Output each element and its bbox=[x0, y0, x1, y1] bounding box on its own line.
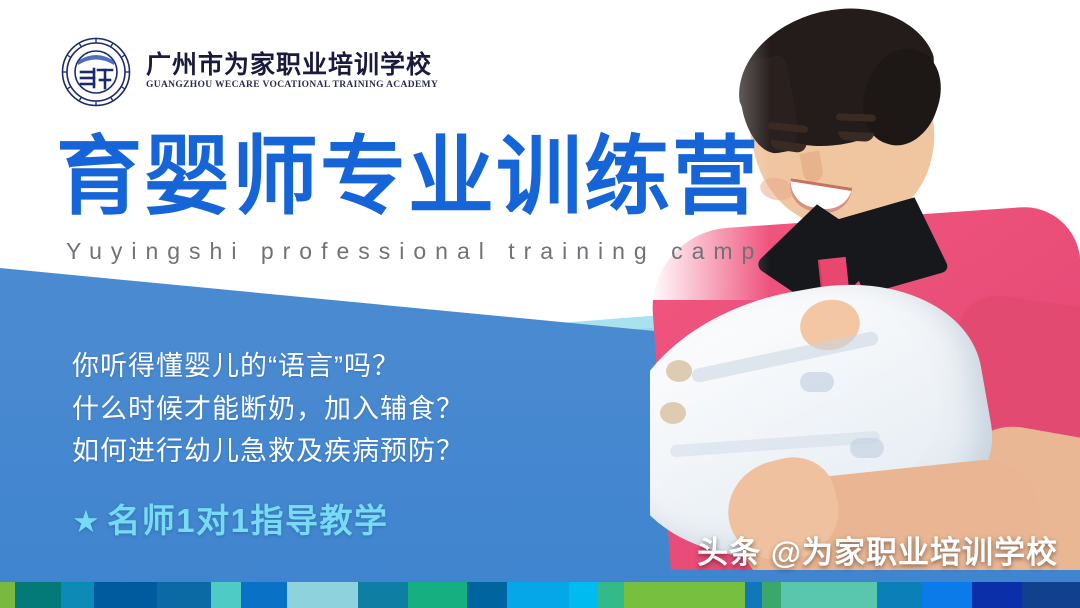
circular-seal-logo-icon bbox=[60, 36, 132, 108]
strip-segment bbox=[61, 582, 94, 608]
blanket-bear-print bbox=[666, 360, 692, 382]
page-subtitle: Yuyingshi professional training camp bbox=[66, 238, 763, 265]
page-title: 育婴师专业训练营 bbox=[56, 134, 760, 220]
question-line: 什么时候才能断奶，加入辅食？ bbox=[72, 388, 464, 431]
school-name-cn: 广州市为家职业培训学校 bbox=[146, 53, 438, 78]
strip-segment bbox=[624, 582, 745, 608]
strip-segment bbox=[922, 582, 972, 608]
highlight-callout: ★名师1对1指导教学 bbox=[72, 494, 389, 542]
question-line: 你听得懂婴儿的“语言”吗？ bbox=[72, 345, 464, 388]
strip-segment bbox=[157, 582, 211, 608]
watermark-label: 头条 @为家职业培训学校 bbox=[697, 527, 1058, 572]
highlight-text: 名师1对1指导教学 bbox=[107, 502, 388, 539]
strip-segment bbox=[1022, 582, 1080, 608]
strip-segment bbox=[94, 582, 157, 608]
strip-segment bbox=[762, 582, 780, 608]
teacher-with-baby-photo bbox=[650, 0, 1080, 570]
strip-segment bbox=[0, 582, 15, 608]
strip-segment bbox=[972, 582, 1022, 608]
star-icon: ★ bbox=[72, 504, 101, 539]
eyebrow-right bbox=[836, 113, 876, 121]
blanket-cloud-print bbox=[800, 372, 834, 392]
brand-lockup: 广州市为家职业培训学校 GUANGZHOU WECARE VOCATIONAL … bbox=[60, 36, 438, 108]
strip-segment bbox=[781, 582, 877, 608]
question-list: 你听得懂婴儿的“语言”吗？ 什么时候才能断奶，加入辅食？ 如何进行幼儿急救及疾病… bbox=[72, 345, 464, 473]
bottom-color-strip bbox=[0, 582, 1080, 608]
strip-segment bbox=[358, 582, 408, 608]
strip-segment bbox=[287, 582, 359, 608]
strip-segment bbox=[598, 582, 624, 608]
strip-segment bbox=[15, 582, 61, 608]
strip-segment bbox=[569, 582, 598, 608]
strip-segment bbox=[408, 582, 466, 608]
blanket-cloud-print bbox=[850, 438, 884, 458]
school-name-block: 广州市为家职业培训学校 GUANGZHOU WECARE VOCATIONAL … bbox=[146, 53, 438, 91]
strip-segment bbox=[211, 582, 241, 608]
strip-segment bbox=[467, 582, 507, 608]
strip-segment bbox=[241, 582, 287, 608]
school-name-en: GUANGZHOU WECARE VOCATIONAL TRAINING ACA… bbox=[146, 81, 438, 91]
strip-segment bbox=[745, 582, 763, 608]
blanket-bear-print bbox=[660, 402, 686, 424]
strip-segment bbox=[877, 582, 922, 608]
question-line: 如何进行幼儿急救及疾病预防？ bbox=[72, 430, 464, 473]
poster-canvas: 广州市为家职业培训学校 GUANGZHOU WECARE VOCATIONAL … bbox=[0, 0, 1080, 608]
strip-segment bbox=[507, 582, 570, 608]
